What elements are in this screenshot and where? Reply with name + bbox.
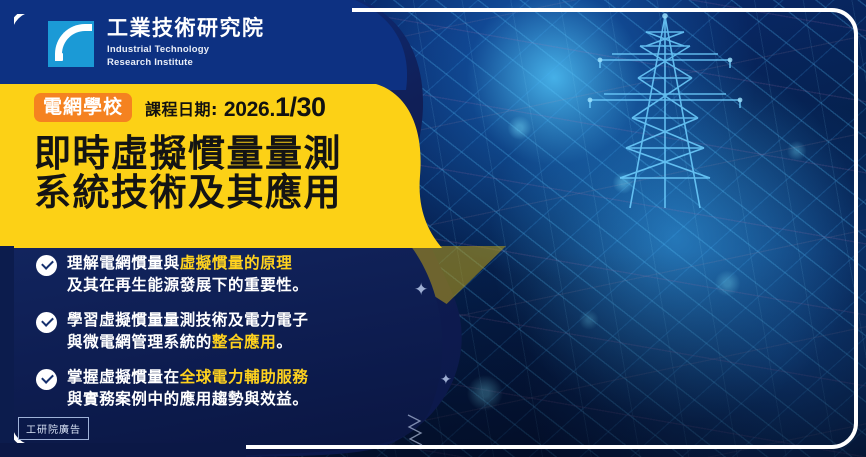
status-badge[interactable]: 電網學校 [34, 93, 132, 123]
list-item: 理解電網慣量與虛擬慣量的原理 及其在再生能源發展下的重要性。 [36, 252, 436, 296]
headline-line-2: 系統技術及其應用 [34, 173, 342, 212]
bullet-1-highlight: 虛擬慣量的原理 [180, 254, 293, 272]
itri-signal-logo-icon [48, 21, 94, 67]
brand-name-en-line2: Research Institute [107, 57, 193, 68]
list-item-line-2: 與微電網管理系統的整合應用。 [67, 331, 309, 353]
list-item-line-1: 掌握虛擬慣量在全球電力輔助服務 [67, 366, 309, 388]
bullet-3-plain: 掌握虛擬慣量在 [67, 368, 180, 386]
frame-cover-left-middle [0, 84, 14, 248]
frame-cover-top [0, 0, 352, 14]
check-circle-icon [36, 369, 57, 390]
headline-line-1: 即時虛擬慣量量測 [34, 134, 342, 173]
bullet-1-plain: 理解電網慣量與 [67, 254, 180, 272]
brand-name-en: Industrial Technology Research Institute [107, 44, 265, 70]
page-title: 即時虛擬慣量量測 系統技術及其應用 [34, 134, 342, 212]
course-promo-banner: 工業技術研究院 Industrial Technology Research I… [0, 0, 866, 457]
list-item: 學習虛擬慣量量測技術及電力電子 與微電網管理系統的整合應用。 [36, 309, 436, 353]
bullet-2-plain: 與微電網管理系統的 [67, 333, 212, 351]
bullet-2-tail: 。 [276, 333, 292, 351]
date-label: 課程日期: [145, 96, 218, 120]
course-objectives-list: 理解電網慣量與虛擬慣量的原理 及其在再生能源發展下的重要性。 學習虛擬慣量量測技… [36, 252, 436, 423]
list-item-line-1: 理解電網慣量與虛擬慣量的原理 [67, 252, 309, 274]
bullet-2-highlight: 整合應用 [212, 333, 276, 351]
frame-cover-left-upper [0, 0, 14, 86]
list-item-text: 掌握虛擬慣量在全球電力輔助服務 與實務案例中的應用趨勢與效益。 [67, 366, 309, 410]
check-circle-icon [36, 255, 57, 276]
frame-cover-bottom [0, 443, 246, 457]
sparkle-icon: ✦ [414, 281, 428, 298]
check-circle-icon [36, 312, 57, 333]
itri-logo[interactable]: 工業技術研究院 Industrial Technology Research I… [48, 18, 265, 70]
list-item-text: 理解電網慣量與虛擬慣量的原理 及其在再生能源發展下的重要性。 [67, 252, 309, 296]
sparkle-icon: ✦ [440, 372, 452, 386]
brand-name-en-line1: Industrial Technology [107, 44, 209, 55]
lightning-zigzag-icon [404, 414, 430, 448]
date-day: 1/30 [275, 92, 326, 123]
list-item: 掌握虛擬慣量在全球電力輔助服務 與實務案例中的應用趨勢與效益。 [36, 366, 436, 410]
bullet-3-highlight: 全球電力輔助服務 [180, 368, 309, 386]
list-item-line-2: 與實務案例中的應用趨勢與效益。 [67, 388, 309, 410]
list-item-text: 學習虛擬慣量量測技術及電力電子 與微電網管理系統的整合應用。 [67, 309, 309, 353]
ad-disclosure-label: 工研院廣告 [18, 417, 89, 440]
brand-name-cn: 工業技術研究院 [107, 18, 265, 39]
itri-logo-text: 工業技術研究院 Industrial Technology Research I… [107, 18, 265, 70]
list-item-line-2: 及其在再生能源發展下的重要性。 [67, 274, 309, 296]
date-year: 2026. [224, 98, 275, 122]
frame-cover-left-lower [0, 246, 14, 457]
list-item-line-1: 學習虛擬慣量量測技術及電力電子 [67, 309, 309, 331]
course-date-row: 電網學校 課程日期: 2026. 1/30 [34, 92, 326, 123]
